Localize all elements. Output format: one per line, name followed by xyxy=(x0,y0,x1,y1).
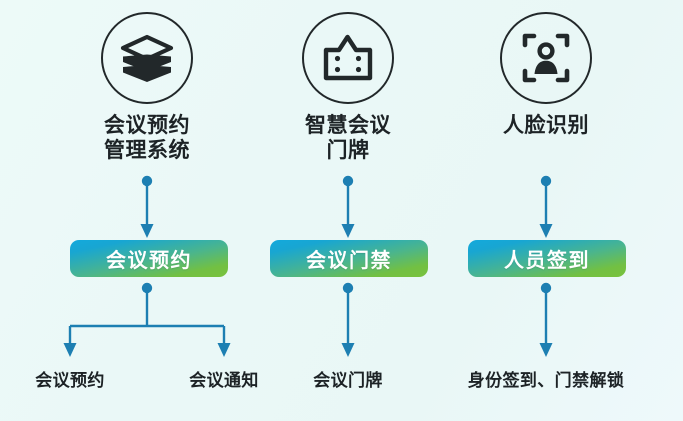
arrowhead-col1-right xyxy=(218,343,231,357)
arrowhead-col3-top xyxy=(540,224,553,238)
node-dot-col1-top xyxy=(142,176,152,186)
leaf-doorplate-1: 会议门牌 xyxy=(288,366,408,391)
heading-doorplate: 智慧会议 门牌 xyxy=(253,114,443,164)
door-plate-icon xyxy=(321,33,375,83)
diagram-canvas: 会议预约 管理系统 会议预约 会议预约 会议通知 智慧会议 门牌 会议门禁 会议… xyxy=(0,0,683,421)
pill-face[interactable]: 人员签到 xyxy=(468,240,626,277)
arrowhead-col3-bottom xyxy=(540,343,553,357)
pill-booking[interactable]: 会议预约 xyxy=(70,240,228,277)
pill-doorplate[interactable]: 会议门禁 xyxy=(270,240,428,277)
node-dot-col3-top xyxy=(541,176,551,186)
heading-face: 人脸识别 xyxy=(451,114,641,139)
layers-stack-icon xyxy=(120,33,174,83)
node-dot-col2-bottom xyxy=(343,283,353,293)
arrowhead-col2-bottom xyxy=(342,343,355,357)
heading-booking: 会议预约 管理系统 xyxy=(47,114,247,164)
node-dot-col3-bottom xyxy=(541,283,551,293)
arrowhead-col1-left xyxy=(64,343,77,357)
arrowhead-col2-top xyxy=(342,224,355,238)
leaf-booking-2: 会议通知 xyxy=(164,366,284,391)
node-dot-col2-top xyxy=(343,176,353,186)
icon-circle-booking xyxy=(101,12,193,104)
face-recognition-icon xyxy=(519,32,573,84)
arrowhead-col1-top xyxy=(141,224,154,238)
leaf-booking-1: 会议预约 xyxy=(10,366,130,391)
icon-circle-doorplate xyxy=(302,12,394,104)
icon-circle-face xyxy=(500,12,592,104)
node-dot-col1-bottom xyxy=(142,283,152,293)
leaf-face-1: 身份签到、门禁解锁 xyxy=(431,366,661,391)
